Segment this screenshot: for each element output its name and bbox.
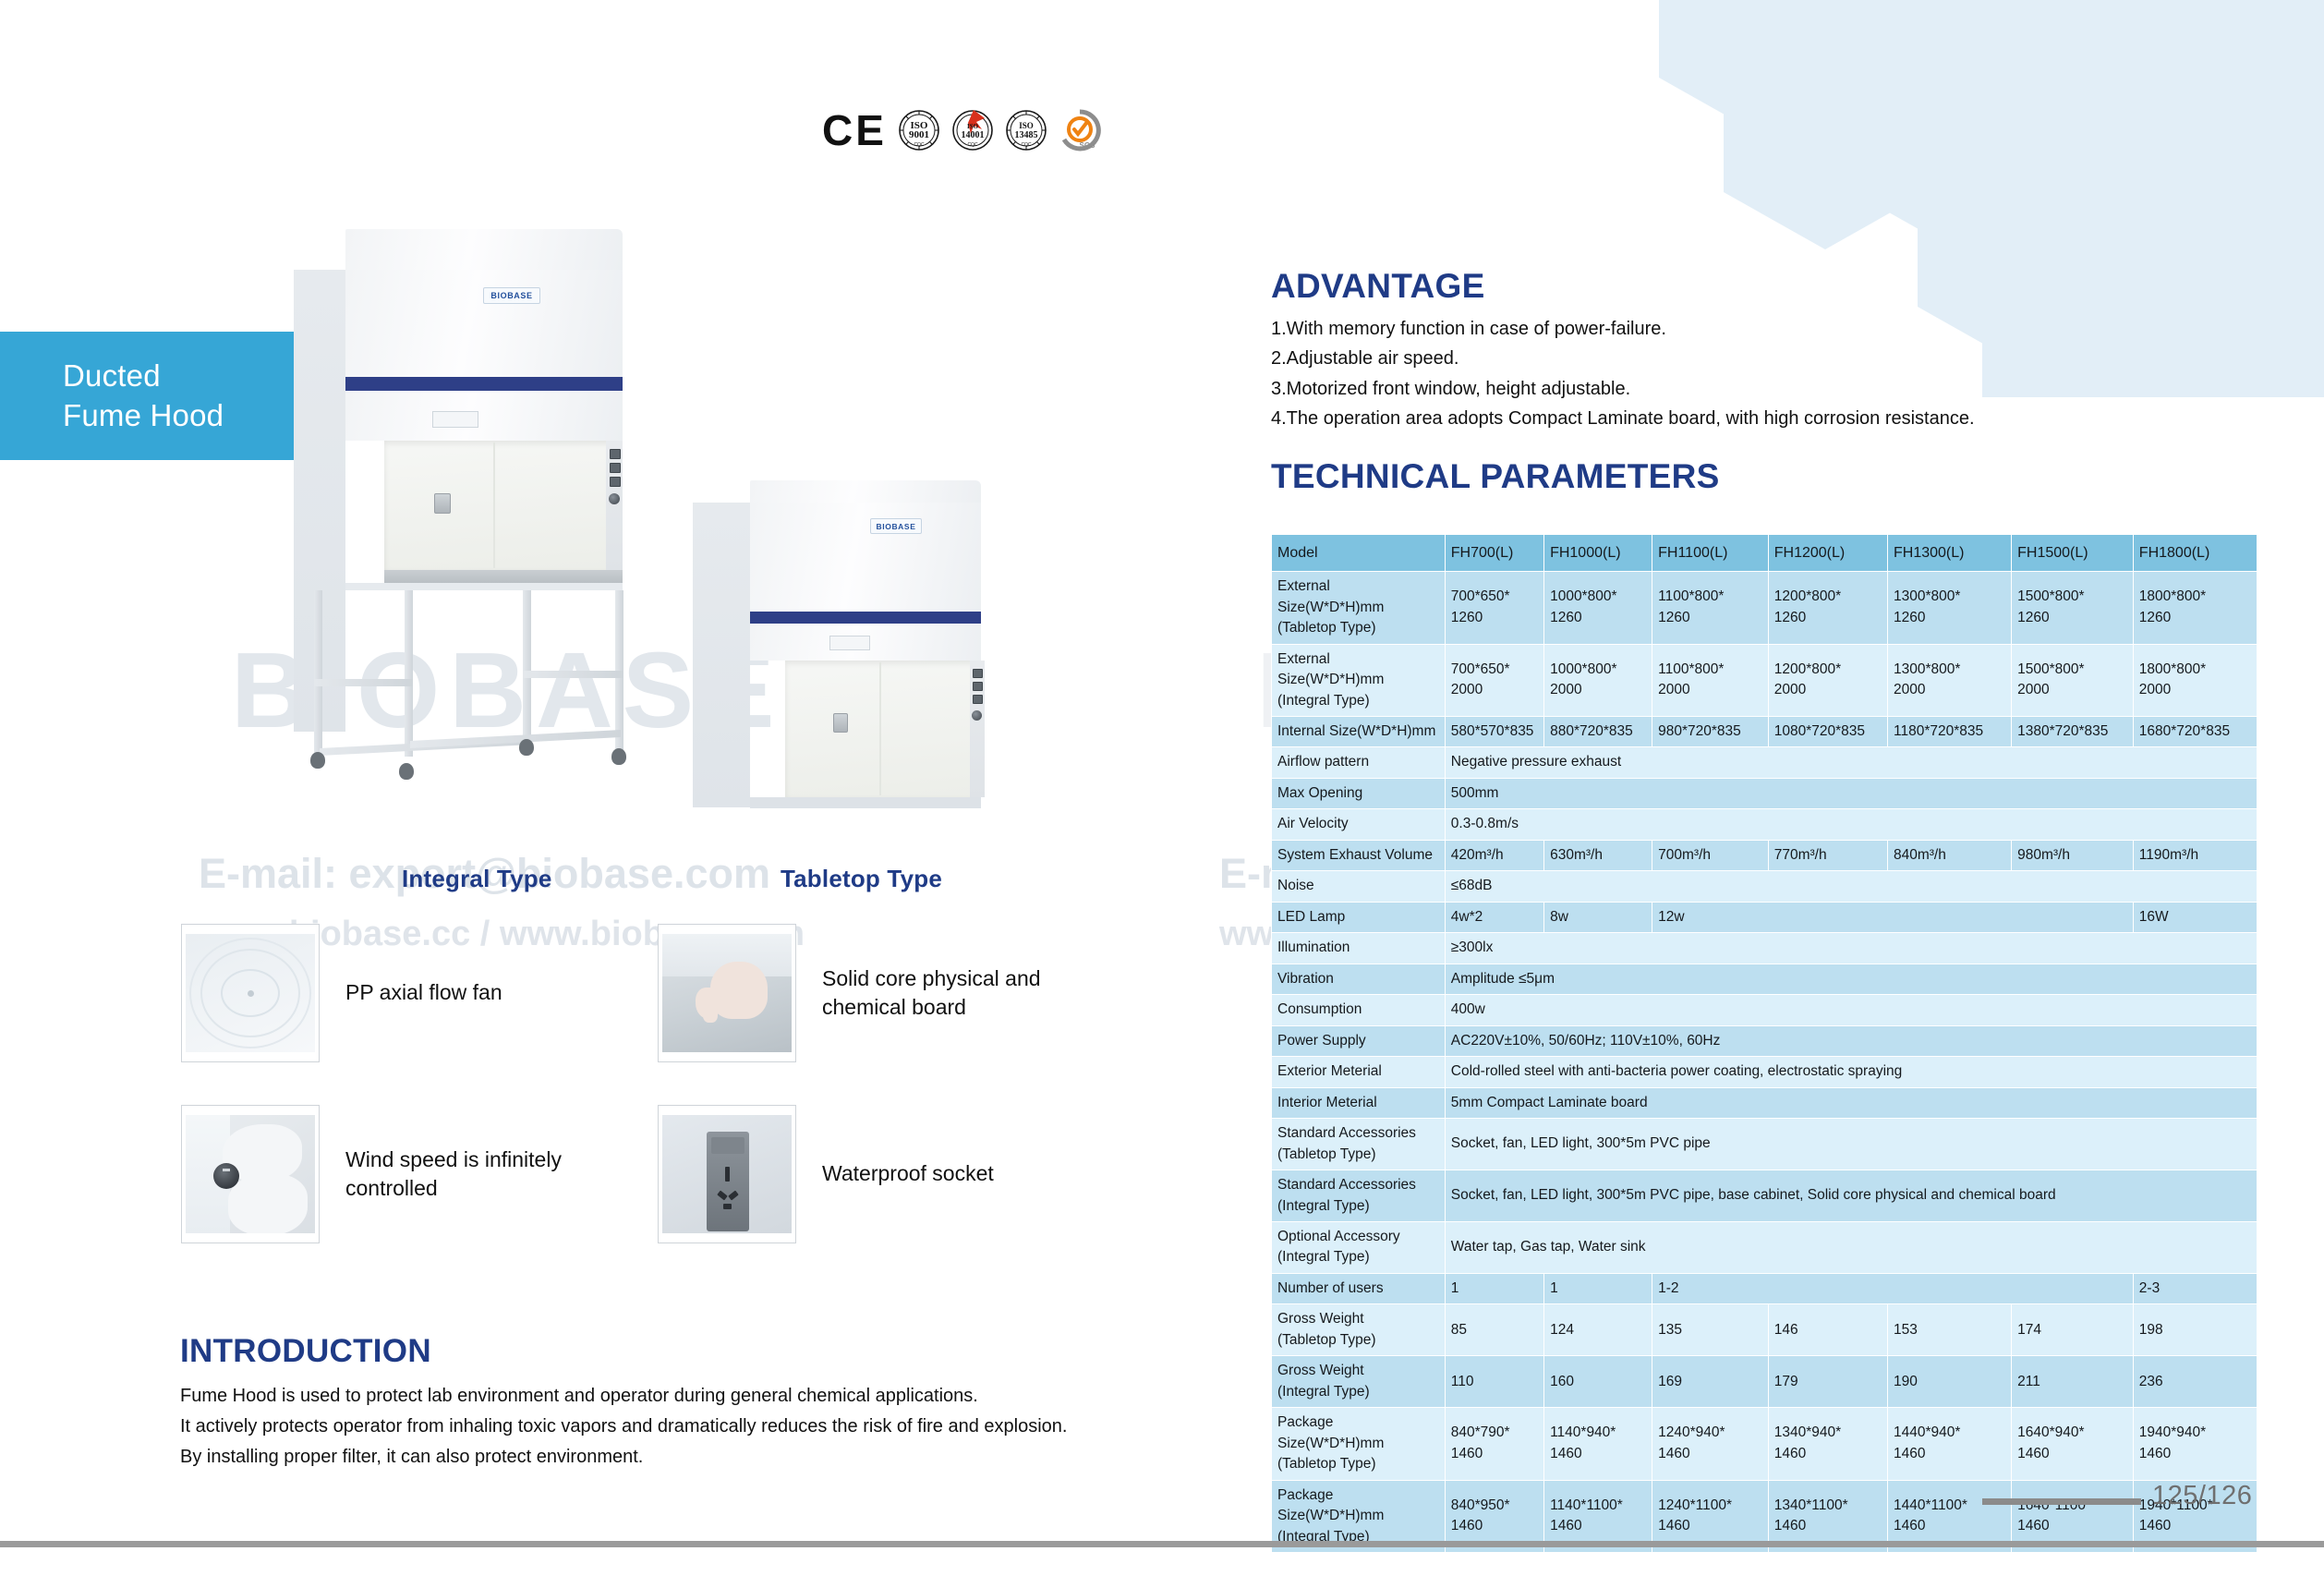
table-cell: 1240*940* 1460 [1652, 1408, 1769, 1480]
table-header-cell: FH1800(L) [2133, 535, 2257, 572]
table-row: System Exhaust Volume420m³/h630m³/h700m³… [1272, 840, 2257, 870]
table-row-label: Gross Weight (Tabletop Type) [1272, 1304, 1446, 1356]
table-row-label: Gross Weight (Integral Type) [1272, 1356, 1446, 1408]
knob-thumbnail-icon [181, 1105, 320, 1243]
table-cell: 980m³/h [2012, 840, 2134, 870]
table-row-label: System Exhaust Volume [1272, 840, 1446, 870]
table-row: LED Lamp4w*28w12w16W [1272, 902, 2257, 932]
product-title-banner: Ducted Fume Hood [0, 332, 305, 460]
table-row-label: Consumption [1272, 995, 1446, 1025]
table-row: Air Velocity0.3-0.8m/s [1272, 809, 2257, 840]
table-cell: 1190m³/h [2133, 840, 2257, 870]
table-cell: 2-3 [2133, 1273, 2257, 1303]
table-cell: 1180*720*835 [1887, 717, 2011, 747]
table-cell: Water tap, Gas tap, Water sink [1445, 1221, 2257, 1273]
table-cell: 500mm [1445, 778, 2257, 808]
feature-item-wind-speed: Wind speed is infinitely controlled [181, 1105, 623, 1243]
control-switch-1[interactable] [973, 669, 983, 678]
control-switch-3[interactable] [610, 477, 621, 487]
table-cell: 1940*940* 1460 [2133, 1408, 2257, 1480]
certification-logos: CE ISO 9001 CQC ISO [822, 109, 1101, 152]
svg-text:ISO: ISO [1019, 121, 1034, 130]
table-header-cell: FH1500(L) [2012, 535, 2134, 572]
feature-label-wind-speed: Wind speed is infinitely controlled [345, 1146, 623, 1203]
table-cell: ≤68dB [1445, 871, 2257, 902]
table-row: Optional Accessory (Integral Type)Water … [1272, 1221, 2257, 1273]
svg-text:CQC: CQC [1021, 142, 1032, 148]
table-cell: 1800*800* 1260 [2133, 572, 2257, 644]
table-row: Exterior MeterialCold-rolled steel with … [1272, 1057, 2257, 1087]
technical-parameters-table: ModelFH700(L)FH1000(L)FH1100(L)FH1200(L)… [1271, 534, 2257, 1553]
iso-14001-badge-icon: ISO 14001 CQC [951, 109, 994, 152]
table-row: Standard Accessories (Integral Type)Sock… [1272, 1170, 2257, 1222]
speed-control-knob[interactable] [609, 493, 620, 504]
table-cell: 1500*800* 1260 [2012, 572, 2134, 644]
table-cell: 420m³/h [1445, 840, 1543, 870]
table-cell: 236 [2133, 1356, 2257, 1408]
table-cell: 1200*800* 1260 [1768, 572, 1887, 644]
table-row-label: Noise [1272, 871, 1446, 902]
svg-text:CQC: CQC [967, 142, 978, 148]
feature-item-board: Solid core physical and chemical board [658, 924, 1099, 1062]
table-cell: 630m³/h [1544, 840, 1652, 870]
table-cell: 1340*940* 1460 [1768, 1408, 1887, 1480]
banner-line-2: Fume Hood [63, 396, 305, 435]
table-cell: 1000*800* 2000 [1544, 644, 1652, 716]
product-image-tabletop-type: BIOBASE [693, 480, 1007, 831]
table-header-cell: FH1100(L) [1652, 535, 1769, 572]
sgs-badge-icon: SGS [1059, 109, 1101, 152]
table-row: Internal Size(W*D*H)mm580*570*835880*720… [1272, 717, 2257, 747]
advantage-item: 3.Motorized front window, height adjusta… [1271, 374, 2084, 404]
svg-text:CQC: CQC [914, 142, 925, 148]
table-cell: Cold-rolled steel with anti-bacteria pow… [1445, 1057, 2257, 1087]
caster-wheel [611, 748, 626, 765]
table-cell: 135 [1652, 1304, 1769, 1356]
table-row-label: Max Opening [1272, 778, 1446, 808]
ce-mark-icon: CE [822, 109, 887, 152]
introduction-paragraph: Fume Hood is used to protect lab environ… [180, 1381, 1076, 1412]
svg-text:SGS: SGS [1079, 141, 1095, 150]
table-row-label: Standard Accessories (Tabletop Type) [1272, 1119, 1446, 1170]
svg-text:13485: 13485 [1014, 130, 1037, 140]
table-cell: 124 [1544, 1304, 1652, 1356]
table-cell: 1200*800* 2000 [1768, 644, 1887, 716]
table-cell: ≥300lx [1445, 933, 2257, 964]
table-row: Package Size(W*D*H)mm (Tabletop Type)840… [1272, 1408, 2257, 1480]
table-cell: 1100*800* 1260 [1652, 572, 1769, 644]
table-row: Consumption400w [1272, 995, 2257, 1025]
table-cell: 770m³/h [1768, 840, 1887, 870]
table-cell: 1-2 [1652, 1273, 2134, 1303]
table-cell: 1080*720*835 [1768, 717, 1887, 747]
table-cell: 580*570*835 [1445, 717, 1543, 747]
table-row: Number of users111-22-3 [1272, 1273, 2257, 1303]
advantage-item: 4.The operation area adopts Compact Lami… [1271, 404, 2084, 433]
svg-text:14001: 14001 [961, 130, 984, 140]
table-cell: AC220V±10%, 50/60Hz; 110V±10%, 60Hz [1445, 1025, 2257, 1056]
table-cell: 1640*940* 1460 [2012, 1408, 2134, 1480]
table-cell: 1000*800* 1260 [1544, 572, 1652, 644]
brand-logo-tabletop: BIOBASE [870, 518, 922, 534]
table-cell: Socket, fan, LED light, 300*5m PVC pipe,… [1445, 1170, 2257, 1222]
table-row: Gross Weight (Integral Type)110160169179… [1272, 1356, 2257, 1408]
table-row-label: Standard Accessories (Integral Type) [1272, 1170, 1446, 1222]
iso-9001-badge-icon: ISO 9001 CQC [898, 109, 940, 152]
feature-label-board: Solid core physical and chemical board [822, 964, 1099, 1022]
table-cell: 1 [1544, 1273, 1652, 1303]
table-row: External Size(W*D*H)mm (Integral Type)70… [1272, 644, 2257, 716]
table-cell: 400w [1445, 995, 2257, 1025]
table-cell: 169 [1652, 1356, 1769, 1408]
table-row-label: Number of users [1272, 1273, 1446, 1303]
table-cell: 85 [1445, 1304, 1543, 1356]
table-row: Max Opening500mm [1272, 778, 2257, 808]
table-cell: 1100*800* 2000 [1652, 644, 1769, 716]
banner-line-1: Ducted [63, 357, 305, 395]
table-row-label: Illumination [1272, 933, 1446, 964]
table-row: Gross Weight (Tabletop Type)851241351461… [1272, 1304, 2257, 1356]
introduction-paragraph: It actively protects operator from inhal… [180, 1412, 1076, 1473]
table-row-label: External Size(W*D*H)mm (Tabletop Type) [1272, 572, 1446, 644]
advantage-item: 2.Adjustable air speed. [1271, 344, 2084, 373]
table-row-label: Air Velocity [1272, 809, 1446, 840]
table-row: Illumination≥300lx [1272, 933, 2257, 964]
table-cell: 1140*940* 1460 [1544, 1408, 1652, 1480]
table-cell: Negative pressure exhaust [1445, 747, 2257, 778]
table-cell: 174 [2012, 1304, 2134, 1356]
board-thumbnail-icon [658, 924, 796, 1062]
control-switch-3[interactable] [973, 695, 983, 704]
feature-item-fan: PP axial flow fan [181, 924, 502, 1062]
table-cell: 700*650* 2000 [1445, 644, 1543, 716]
table-cell: 198 [2133, 1304, 2257, 1356]
table-cell: 880*720*835 [1544, 717, 1652, 747]
control-switch-2[interactable] [610, 463, 621, 473]
table-row-label: LED Lamp [1272, 902, 1446, 932]
table-cell: 1380*720*835 [2012, 717, 2134, 747]
introduction-heading: INTRODUCTION [180, 1333, 431, 1370]
socket-thumbnail-icon [658, 1105, 796, 1243]
table-cell: 700*650* 1260 [1445, 572, 1543, 644]
svg-text:9001: 9001 [909, 129, 929, 140]
table-row-label: Optional Accessory (Integral Type) [1272, 1221, 1446, 1273]
table-cell: 12w [1652, 902, 2134, 932]
table-cell: 1680*720*835 [2133, 717, 2257, 747]
table-cell: 160 [1544, 1356, 1652, 1408]
table-cell: 840m³/h [1887, 840, 2011, 870]
table-cell: 1440*940* 1460 [1887, 1408, 2011, 1480]
speed-control-knob[interactable] [972, 710, 982, 721]
table-row-label: Internal Size(W*D*H)mm [1272, 717, 1446, 747]
table-cell: 1500*800* 2000 [2012, 644, 2134, 716]
table-row-label: Exterior Meterial [1272, 1057, 1446, 1087]
brand-logo-integral: BIOBASE [483, 287, 540, 304]
svg-text:ISO: ISO [967, 123, 979, 130]
table-header-cell: FH1300(L) [1887, 535, 2011, 572]
table-cell: 110 [1445, 1356, 1543, 1408]
table-row: Standard Accessories (Tabletop Type)Sock… [1272, 1119, 2257, 1170]
table-cell: 840*790* 1460 [1445, 1408, 1543, 1480]
table-row-label: Package Size(W*D*H)mm (Tabletop Type) [1272, 1408, 1446, 1480]
table-cell: 146 [1768, 1304, 1887, 1356]
table-row-label: Airflow pattern [1272, 747, 1446, 778]
caption-integral-type: Integral Type [402, 865, 552, 893]
table-cell: 211 [2012, 1356, 2134, 1408]
technical-parameters-heading: TECHNICAL PARAMETERS [1271, 457, 1720, 496]
table-row: External Size(W*D*H)mm (Tabletop Type)70… [1272, 572, 2257, 644]
page-number: 125/126 [2152, 1481, 2252, 1511]
advantage-heading: ADVANTAGE [1271, 267, 1485, 306]
product-image-integral-type: BIOBASE [294, 229, 663, 802]
table-row-label: Interior Meterial [1272, 1087, 1446, 1118]
table-header-cell: FH1000(L) [1544, 535, 1652, 572]
fan-thumbnail-icon [181, 924, 320, 1062]
table-row: Power SupplyAC220V±10%, 50/60Hz; 110V±10… [1272, 1025, 2257, 1056]
footer-bottom-bar [0, 1541, 2324, 1547]
feature-item-socket: Waterproof socket [658, 1105, 994, 1243]
table-cell: 1800*800* 2000 [2133, 644, 2257, 716]
feature-label-fan: PP axial flow fan [345, 978, 502, 1007]
table-cell: 700m³/h [1652, 840, 1769, 870]
catalog-page: CE ISO 9001 CQC ISO [0, 0, 2324, 1588]
feature-label-socket: Waterproof socket [822, 1159, 994, 1188]
caster-wheel [310, 752, 325, 769]
table-cell: 4w*2 [1445, 902, 1543, 932]
table-cell: 179 [1768, 1356, 1887, 1408]
table-cell: 1300*800* 1260 [1887, 572, 2011, 644]
caster-wheel [519, 739, 534, 756]
table-cell: 1300*800* 2000 [1887, 644, 2011, 716]
table-cell: 8w [1544, 902, 1652, 932]
table-cell: Socket, fan, LED light, 300*5m PVC pipe [1445, 1119, 2257, 1170]
advantage-list: 1.With memory function in case of power-… [1271, 314, 2084, 434]
table-cell: 0.3-0.8m/s [1445, 809, 2257, 840]
table-cell: 190 [1887, 1356, 2011, 1408]
control-switch-1[interactable] [610, 449, 621, 459]
table-cell: 980*720*835 [1652, 717, 1769, 747]
caption-tabletop-type: Tabletop Type [781, 865, 942, 893]
table-cell: Amplitude ≤5μm [1445, 964, 2257, 994]
table-row: Noise≤68dB [1272, 871, 2257, 902]
table-row-label: External Size(W*D*H)mm (Integral Type) [1272, 644, 1446, 716]
table-row: VibrationAmplitude ≤5μm [1272, 964, 2257, 994]
introduction-body: Fume Hood is used to protect lab environ… [180, 1381, 1076, 1473]
table-row-label: Power Supply [1272, 1025, 1446, 1056]
table-cell: 16W [2133, 902, 2257, 932]
table-header-row: ModelFH700(L)FH1000(L)FH1100(L)FH1200(L)… [1272, 535, 2257, 572]
control-switch-2[interactable] [973, 682, 983, 691]
table-header-cell: FH1200(L) [1768, 535, 1887, 572]
table-row: Airflow patternNegative pressure exhaust [1272, 747, 2257, 778]
table-row: Interior Meterial5mm Compact Laminate bo… [1272, 1087, 2257, 1118]
table-cell: 1 [1445, 1273, 1543, 1303]
table-cell: 153 [1887, 1304, 2011, 1356]
table-header-cell: FH700(L) [1445, 535, 1543, 572]
caster-wheel [399, 763, 414, 780]
iso-13485-badge-icon: ISO 13485 CQC [1005, 109, 1047, 152]
table-header-cell: Model [1272, 535, 1446, 572]
table-row-label: Vibration [1272, 964, 1446, 994]
footer-rule [1982, 1498, 2141, 1505]
table-cell: 5mm Compact Laminate board [1445, 1087, 2257, 1118]
advantage-item: 1.With memory function in case of power-… [1271, 314, 2084, 344]
